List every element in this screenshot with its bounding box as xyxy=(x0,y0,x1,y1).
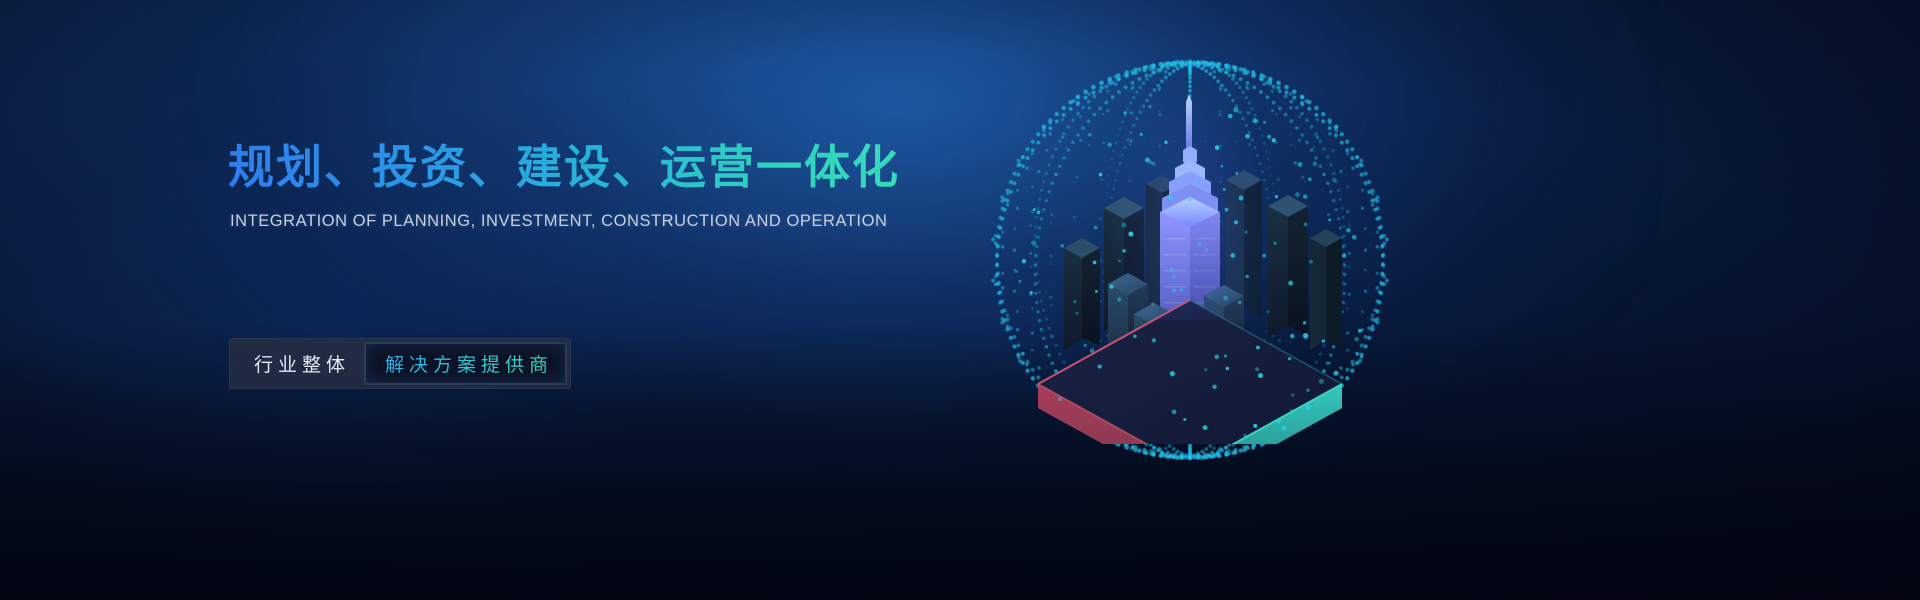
hero-illustration xyxy=(960,30,1420,490)
banner-hero: 规划、投资、建设、运营一体化 INTEGRATION OF PLANNING, … xyxy=(0,0,1920,600)
page-title: 规划、投资、建设、运营一体化 xyxy=(228,140,988,194)
isometric-city-group xyxy=(1012,88,1368,444)
badge-label-accent: 解决方案提供商 xyxy=(365,343,566,384)
page-subtitle: INTEGRATION OF PLANNING, INVESTMENT, CON… xyxy=(230,212,988,231)
badge-label-primary: 行业整体 xyxy=(233,342,364,385)
status-badge[interactable]: 行业整体 解决方案提供商 xyxy=(229,338,571,389)
badge-accent-wrap: 解决方案提供商 xyxy=(364,342,567,385)
hero-text-block: 规划、投资、建设、运营一体化 INTEGRATION OF PLANNING, … xyxy=(228,140,988,231)
